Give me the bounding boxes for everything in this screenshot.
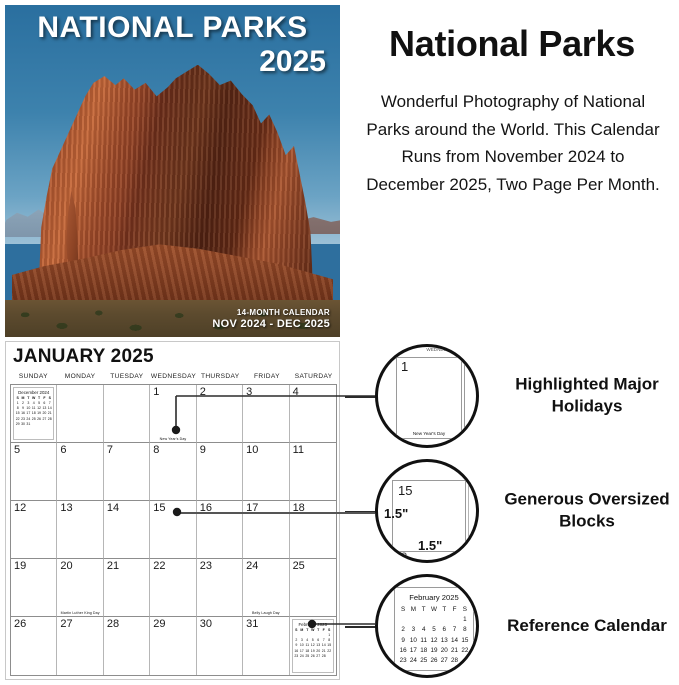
day-number: 10	[246, 444, 258, 456]
mini-calendar-table: SMTWTFS123456789101112131415161718192021…	[15, 396, 52, 426]
zoom-reference-dow: M	[408, 605, 418, 615]
zoom-neighbor-day-number: 2	[468, 358, 475, 373]
mini-calendar-day: 24	[26, 417, 31, 422]
day-number: 9	[200, 444, 206, 456]
zoom-reference-dow-row: SMTWTFS	[398, 605, 470, 615]
zoom-reference-day: 27	[439, 656, 449, 666]
mini-calendar-day	[47, 422, 52, 427]
mini-calendar-december: December 2024SMTWTFS12345678910111213141…	[13, 387, 54, 440]
zoom-reference-day: 26	[429, 656, 439, 666]
mini-calendar-week-row: 232425262728	[294, 654, 332, 659]
weekday-header-row: SUNDAYMONDAYTUESDAYWEDNESDAYTHURSDAYFRID…	[10, 373, 337, 380]
mini-calendar-day: 21	[321, 649, 326, 654]
weekday-header-sunday: SUNDAY	[10, 373, 57, 380]
mini-calendar-february: February 2025SMTWTFS12345678910111213141…	[292, 619, 334, 673]
day-number: 5	[14, 444, 20, 456]
magnifier-lens-blocks: 15 1 1.5" 1.5" 22	[375, 459, 479, 563]
mini-calendar-table: SMTWTFS123456789101112131415161718192021…	[294, 628, 332, 658]
zoom-reference-week-row: 232425262728	[398, 656, 470, 666]
zoom-reference-mini-calendar: February 2025 SMTWTFS1234567891011121314…	[394, 587, 474, 671]
zoom-reference-day	[439, 615, 449, 625]
zoom-day-number: 1	[401, 359, 408, 374]
calendar-cell-day-10: 10	[243, 443, 289, 501]
mini-calendar-day: 19	[36, 411, 41, 416]
calendar-cover-photo: NATIONAL PARKS 2025 14-MONTH CALENDAR NO…	[5, 5, 340, 337]
calendar-cell-day-30: 30	[197, 617, 243, 675]
zoom-reference-day: 8	[460, 625, 470, 635]
mini-calendar-day	[326, 654, 332, 659]
zoom-reference-day: 24	[408, 656, 418, 666]
mini-calendar-day: 14	[321, 643, 326, 648]
weekday-header-saturday: SATURDAY	[290, 373, 337, 380]
zoom-reference-day	[398, 615, 408, 625]
product-headline: National Parks	[345, 26, 679, 62]
zoom-reference-day: 6	[439, 625, 449, 635]
mini-calendar-day: 15	[15, 411, 20, 416]
mini-calendar-day: 15	[326, 643, 332, 648]
zoom-reference-week-row: 1	[398, 615, 470, 625]
zoom-reference-day: 9	[398, 636, 408, 646]
zoom-block-neighbor: 1	[468, 480, 479, 552]
mini-calendar-day: 29	[15, 422, 20, 427]
zoom-reference-day: 4	[419, 625, 429, 635]
mini-calendar-day: 23	[20, 417, 25, 422]
mini-calendar-title: February 2025	[294, 622, 332, 627]
zoom-reference-day: 2	[398, 625, 408, 635]
day-number: 30	[200, 618, 212, 630]
calendar-grid: December 2024SMTWTFS12345678910111213141…	[10, 384, 337, 676]
cover-banner-line2: NOV 2024 - DEC 2025	[212, 318, 330, 331]
zoom-reference-day: 15	[460, 636, 470, 646]
day-number: 23	[200, 560, 212, 572]
cover-banner-line1: 14-MONTH CALENDAR	[212, 308, 330, 318]
zoom-reference-day: 10	[408, 636, 418, 646]
mini-calendar-day: 10	[299, 643, 304, 648]
day-number: 31	[246, 618, 258, 630]
calendar-cell-day-4: 4	[290, 385, 336, 443]
zoom-reference-week-row: 16171819202122	[398, 646, 470, 656]
zoom-reference-day: 3	[408, 625, 418, 635]
calendar-cell-day-23: 23	[197, 559, 243, 617]
mini-calendar-week-row: 293031	[15, 422, 52, 427]
calendar-cell-day-11: 11	[290, 443, 336, 501]
calendar-cell-day-14: 14	[104, 501, 150, 559]
zoom-reference-dow: F	[449, 605, 459, 615]
zoom-reference-day: 16	[398, 646, 408, 656]
mini-calendar-day: 25	[305, 654, 310, 659]
mini-calendar-day: 24	[299, 654, 304, 659]
mini-calendar-day: 27	[316, 654, 321, 659]
mini-calendar-day: 20	[316, 649, 321, 654]
holiday-label: Belly Laugh Day	[243, 611, 288, 615]
calendar-cell-day-1: 1New Year's Day	[150, 385, 196, 443]
day-number: 3	[246, 386, 252, 398]
zoom-below-day-number: 8	[396, 440, 479, 448]
mini-calendar-day: 31	[26, 422, 31, 427]
zoom-block-below-number: 22	[394, 550, 407, 563]
zoom-reference-day: 22	[460, 646, 470, 656]
calendar-cell-day-28: 28	[104, 617, 150, 675]
calendar-cell-day-13: 13	[57, 501, 103, 559]
mini-calendar-day: 13	[316, 643, 321, 648]
zoom-reference-day: 19	[429, 646, 439, 656]
zoom-reference-day: 20	[439, 646, 449, 656]
zoom-reference-dow: T	[419, 605, 429, 615]
day-number: 6	[60, 444, 66, 456]
mini-calendar-day: 16	[294, 649, 299, 654]
callout-highlighted-holidays: WEDNESDAY 1 New Year's Day 2 8 Highlight…	[345, 340, 679, 452]
zoom-reference-table: SMTWTFS123456789101112131415161718192021…	[398, 605, 470, 666]
callout-label-holidays: Highlighted Major Holidays	[495, 374, 679, 419]
day-number: 18	[293, 502, 305, 514]
mini-calendar-day: 22	[326, 649, 332, 654]
day-number: 14	[107, 502, 119, 514]
zoom-reference-day: 11	[419, 636, 429, 646]
mini-calendar-day: 18	[31, 411, 36, 416]
mini-calendar-day: 12	[310, 643, 315, 648]
day-number: 13	[60, 502, 72, 514]
dimension-vertical: 1.5"	[384, 506, 408, 521]
mini-calendar-day: 28	[47, 417, 52, 422]
cover-year: 2025	[259, 47, 326, 77]
calendar-cell-day-22: 22	[150, 559, 196, 617]
zoom-day-cell: 1 New Year's Day	[396, 357, 462, 439]
day-number: 2	[200, 386, 206, 398]
mini-calendar-day: 17	[299, 649, 304, 654]
callout-label-blocks: Generous Oversized Blocks	[495, 489, 679, 534]
mini-calendar-day: 22	[15, 417, 20, 422]
mini-calendar-day: 18	[305, 649, 310, 654]
weekday-header-friday: FRIDAY	[244, 373, 291, 380]
calendar-cell-day-31: 31	[243, 617, 289, 675]
zoom-holiday-label: New Year's Day	[397, 431, 461, 436]
calendar-cell-day-18: 18	[290, 501, 336, 559]
weekday-header-wednesday: WEDNESDAY	[150, 373, 197, 380]
weekday-header-tuesday: TUESDAY	[103, 373, 150, 380]
day-number: 24	[246, 560, 258, 572]
calendar-cell-day-27: 27	[57, 617, 103, 675]
zoom-reference-day: 23	[398, 656, 408, 666]
day-number: 19	[14, 560, 26, 572]
day-number: 7	[107, 444, 113, 456]
zoom-reference-day: 28	[449, 656, 459, 666]
mini-calendar-day: 28	[321, 654, 326, 659]
mini-calendar-day: 20	[42, 411, 47, 416]
zoom-reference-day: 14	[449, 636, 459, 646]
callout-reference-calendar: February 2025 SMTWTFS1234567891011121314…	[345, 570, 679, 682]
calendar-cell-day-24: 24Belly Laugh Day	[243, 559, 289, 617]
product-description: Wonderful Photography of National Parks …	[363, 88, 663, 198]
mini-calendar-day: 19	[310, 649, 315, 654]
zoom-reference-dow: T	[439, 605, 449, 615]
zoom-reference-day: 21	[449, 646, 459, 656]
day-number: 15	[153, 502, 165, 514]
calendar-cell-day-29: 29	[150, 617, 196, 675]
zoom-reference-day: 13	[439, 636, 449, 646]
calendar-cell-day-3: 3	[243, 385, 289, 443]
zoom-reference-day: 7	[449, 625, 459, 635]
calendar-cell-day-26: 26	[11, 617, 57, 675]
zoom-reference-day	[460, 656, 470, 666]
mini-calendar-day: 16	[20, 411, 25, 416]
weekday-header-thursday: THURSDAY	[197, 373, 244, 380]
day-number: 26	[14, 618, 26, 630]
day-number: 28	[107, 618, 119, 630]
mini-calendar-day: 26	[36, 417, 41, 422]
magnifier-lens-holidays: WEDNESDAY 1 New Year's Day 2 8	[375, 344, 479, 448]
mini-calendar-day: 17	[26, 411, 31, 416]
zoom-reference-day	[419, 615, 429, 625]
mini-calendar-day: 21	[47, 411, 52, 416]
calendar-cell-day-17: 17	[243, 501, 289, 559]
calendar-cell-mini-december: December 2024SMTWTFS12345678910111213141…	[11, 385, 57, 443]
day-number: 8	[153, 444, 159, 456]
day-number: 21	[107, 560, 119, 572]
mini-calendar-title: December 2024	[15, 390, 52, 395]
dimension-horizontal: 1.5"	[418, 538, 442, 553]
zoom-neighbor-cell: 2	[464, 357, 479, 439]
zoom-reference-day: 17	[408, 646, 418, 656]
zoom-block-neighbor-number: 1	[471, 482, 476, 492]
mini-calendar-day: 23	[294, 654, 299, 659]
day-number: 12	[14, 502, 26, 514]
calendar-page: JANUARY 2025 SUNDAYMONDAYTUESDAYWEDNESDA…	[5, 341, 340, 680]
calendar-cell-day-8: 8	[150, 443, 196, 501]
calendar-cell-empty	[57, 385, 103, 443]
callout-label-reference: Reference Calendar	[495, 615, 679, 637]
cover-title: NATIONAL PARKS	[5, 13, 340, 43]
zoom-top-strip: WEDNESDAY	[396, 347, 479, 356]
mini-calendar-day: 25	[31, 417, 36, 422]
day-number: 17	[246, 502, 258, 514]
zoom-reference-day: 5	[429, 625, 439, 635]
calendar-cell-day-2: 2	[197, 385, 243, 443]
calendar-cell-day-16: 16	[197, 501, 243, 559]
calendar-cell-day-19: 19	[11, 559, 57, 617]
zoom-reference-day	[408, 615, 418, 625]
calendar-cell-day-6: 6	[57, 443, 103, 501]
holiday-label: New Year's Day	[150, 437, 195, 441]
zoom-reference-day: 18	[419, 646, 429, 656]
holiday-label: Martin Luther King Day	[57, 611, 102, 615]
zoom-reference-dow: S	[460, 605, 470, 615]
zoom-reference-dow: S	[398, 605, 408, 615]
day-number: 29	[153, 618, 165, 630]
day-number: 16	[200, 502, 212, 514]
weekday-header-monday: MONDAY	[57, 373, 104, 380]
mini-calendar-day: 26	[310, 654, 315, 659]
zoom-reference-day: 1	[460, 615, 470, 625]
zoom-reference-day: 25	[419, 656, 429, 666]
calendar-cell-day-25: 25	[290, 559, 336, 617]
calendar-cell-mini-february: February 2025SMTWTFS12345678910111213141…	[290, 617, 336, 675]
day-number: 22	[153, 560, 165, 572]
day-number: 25	[293, 560, 305, 572]
calendar-cell-day-20: 20Martin Luther King Day	[57, 559, 103, 617]
zoom-reference-dow: W	[429, 605, 439, 615]
zoom-reference-day	[429, 615, 439, 625]
calendar-cell-day-12: 12	[11, 501, 57, 559]
magnifier-lens-reference: February 2025 SMTWTFS1234567891011121314…	[375, 574, 479, 678]
zoom-reference-week-row: 9101112131415	[398, 636, 470, 646]
day-number: 4	[293, 386, 299, 398]
day-number: 11	[293, 444, 304, 456]
calendar-cell-day-7: 7	[104, 443, 150, 501]
mini-calendar-day: 30	[20, 422, 25, 427]
cover-banner: 14-MONTH CALENDAR NOV 2024 - DEC 2025	[212, 308, 330, 331]
calendar-cell-empty	[104, 385, 150, 443]
day-number: 1	[153, 386, 159, 398]
zoom-block-day-number: 15	[398, 483, 412, 498]
calendar-cell-day-5: 5	[11, 443, 57, 501]
zoom-reference-day	[449, 615, 459, 625]
day-number: 27	[60, 618, 72, 630]
zoom-reference-title: February 2025	[398, 593, 470, 602]
marketing-info-panel: National Parks Wonderful Photography of …	[345, 0, 679, 685]
calendar-cell-day-15: 15	[150, 501, 196, 559]
zoom-reference-week-row: 2345678	[398, 625, 470, 635]
zoom-reference-day: 12	[429, 636, 439, 646]
calendar-cell-day-21: 21	[104, 559, 150, 617]
callout-oversized-blocks: 15 1 1.5" 1.5" 22 Generous Oversized Blo…	[345, 455, 679, 567]
mini-calendar-day: 27	[42, 417, 47, 422]
calendar-month-title: JANUARY 2025	[13, 346, 154, 368]
day-number: 20	[60, 560, 72, 572]
product-image-panel: NATIONAL PARKS 2025 14-MONTH CALENDAR NO…	[0, 0, 345, 685]
calendar-cell-day-9: 9	[197, 443, 243, 501]
